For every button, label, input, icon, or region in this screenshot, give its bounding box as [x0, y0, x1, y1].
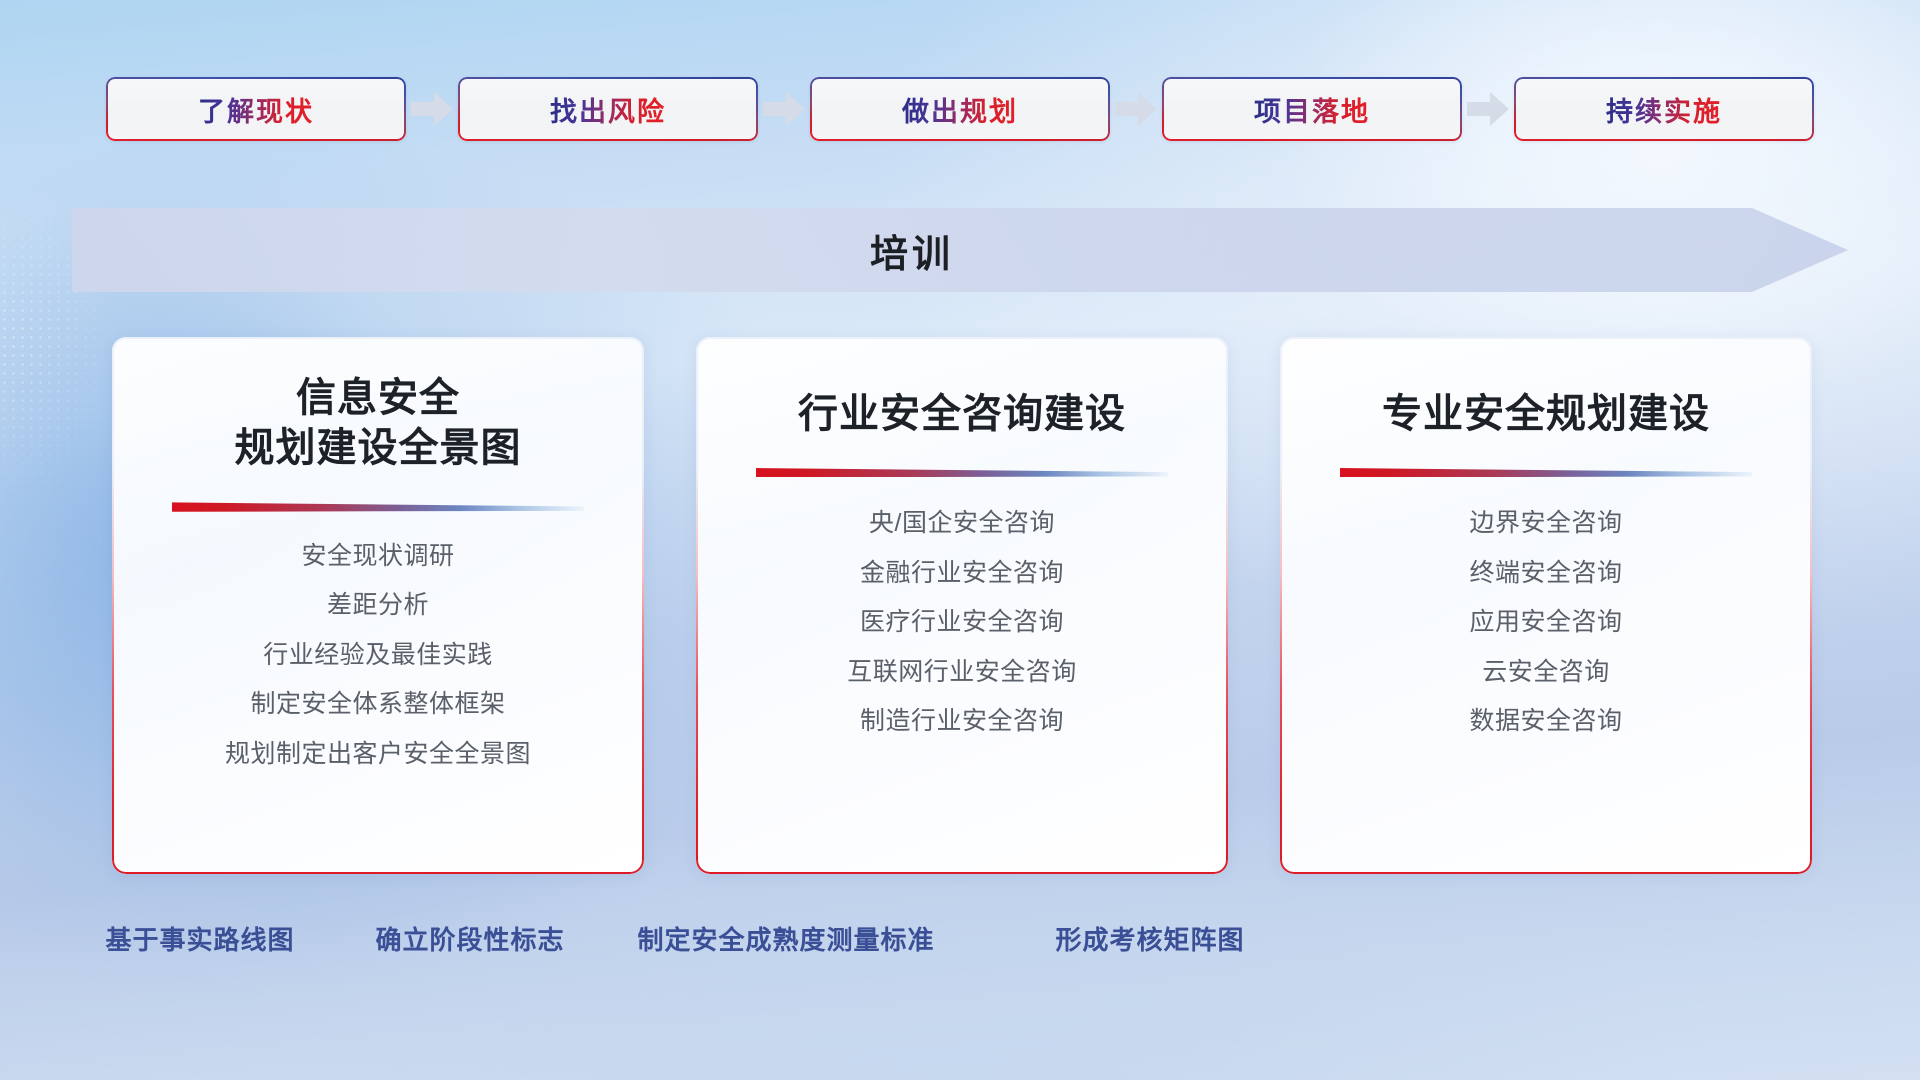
card-title: 专业安全规划建设	[1382, 373, 1710, 439]
step-label: 了解现状	[198, 90, 314, 129]
service-card-professional[interactable]: 专业安全规划建设 边界安全咨询 终端安全咨询 应用安全咨询 云安全咨询 数据安全…	[1280, 337, 1812, 874]
card-item-list: 央/国企安全咨询 金融行业安全咨询 医疗行业安全咨询 互联网行业安全咨询 制造行…	[722, 505, 1202, 741]
step-pill-5[interactable]: 持续实施	[1514, 77, 1814, 141]
card-divider	[1340, 465, 1753, 477]
card-divider	[756, 465, 1169, 477]
service-cards: 信息安全 规划建设全景图 安全现状调研 差距分析 行业经验及最佳实践 制定安全体…	[112, 337, 1812, 874]
card-item-list: 边界安全咨询 终端安全咨询 应用安全咨询 云安全咨询 数据安全咨询	[1306, 505, 1786, 741]
list-item: 互联网行业安全咨询	[847, 654, 1077, 692]
list-item: 制造行业安全咨询	[860, 703, 1064, 741]
footnote-milestones: 确立阶段性标志	[375, 920, 564, 957]
footnote-row: 基于事实路线图 确立阶段性标志 制定安全成熟度测量标准 形成考核矩阵图	[0, 920, 1920, 960]
footnote-roadmap: 基于事实路线图	[105, 920, 294, 957]
process-steps: 了解现状 找出风险 做出规划 项目落地	[0, 76, 1920, 142]
slide-canvas: 了解现状 找出风险 做出规划 项目落地	[0, 0, 1920, 1080]
arrow-right-icon	[406, 77, 458, 141]
card-title: 信息安全 规划建设全景图	[235, 373, 522, 474]
card-divider	[172, 500, 585, 512]
list-item: 差距分析	[327, 587, 429, 625]
step-pill-4[interactable]: 项目落地	[1162, 77, 1462, 141]
list-item: 金融行业安全咨询	[860, 555, 1064, 593]
service-card-industry[interactable]: 行业安全咨询建设 央/国企安全咨询 金融行业安全咨询 医疗行业安全咨询 互联网行…	[696, 337, 1228, 874]
step-pill-3[interactable]: 做出规划	[810, 77, 1110, 141]
arrow-right-icon	[758, 77, 810, 141]
list-item: 安全现状调研	[301, 538, 454, 576]
list-item: 央/国企安全咨询	[869, 505, 1055, 543]
list-item: 云安全咨询	[1482, 654, 1610, 692]
footnote-maturity: 制定安全成熟度测量标准	[637, 920, 934, 957]
list-item: 规划制定出客户安全全景图	[225, 736, 531, 774]
list-item: 制定安全体系整体框架	[250, 686, 505, 724]
step-label: 持续实施	[1606, 90, 1722, 129]
list-item: 行业经验及最佳实践	[263, 637, 493, 675]
service-card-overview[interactable]: 信息安全 规划建设全景图 安全现状调研 差距分析 行业经验及最佳实践 制定安全体…	[112, 337, 644, 874]
list-item: 数据安全咨询	[1469, 703, 1622, 741]
step-label: 做出规划	[902, 90, 1018, 129]
list-item: 应用安全咨询	[1469, 604, 1622, 642]
footnote-matrix: 形成考核矩阵图	[1055, 920, 1244, 957]
training-banner: 培训	[72, 208, 1848, 292]
step-label: 找出风险	[550, 90, 666, 129]
step-pill-2[interactable]: 找出风险	[458, 77, 758, 141]
arrow-right-icon	[1462, 77, 1514, 141]
list-item: 医疗行业安全咨询	[860, 604, 1064, 642]
arrow-right-icon	[1110, 77, 1162, 141]
card-item-list: 安全现状调研 差距分析 行业经验及最佳实践 制定安全体系整体框架 规划制定出客户…	[138, 538, 618, 774]
list-item: 边界安全咨询	[1469, 505, 1622, 543]
banner-title: 培训	[72, 208, 1848, 292]
list-item: 终端安全咨询	[1469, 555, 1622, 593]
step-label: 项目落地	[1254, 90, 1370, 129]
card-title: 行业安全咨询建设	[798, 373, 1126, 439]
step-pill-1[interactable]: 了解现状	[106, 77, 406, 141]
